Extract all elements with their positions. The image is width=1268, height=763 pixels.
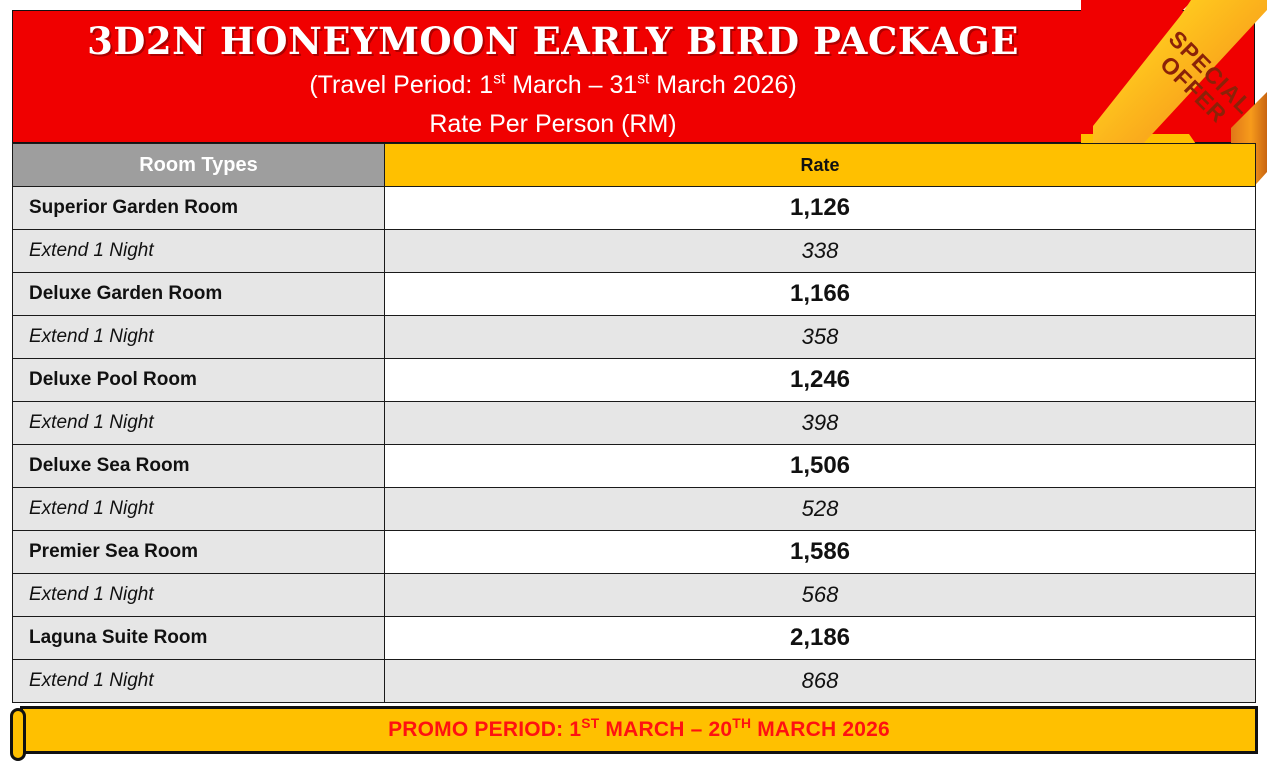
room-type-cell: Laguna Suite Room: [13, 617, 385, 660]
table-row: Extend 1 Night 338: [13, 230, 1256, 273]
rate-cell: 528: [385, 488, 1256, 531]
rate-cell: 1,246: [385, 359, 1256, 402]
table-row: Extend 1 Night 358: [13, 316, 1256, 359]
room-type-cell: Extend 1 Night: [13, 660, 385, 703]
promo-ordinal-second: TH: [732, 715, 751, 731]
table-row: Extend 1 Night 868: [13, 660, 1256, 703]
travel-period-ordinal-first: st: [493, 71, 505, 88]
table-body: Superior Garden Room 1,126 Extend 1 Nigh…: [13, 187, 1256, 703]
table-row: Laguna Suite Room 2,186: [13, 617, 1256, 660]
promo-flyer: 3D2N HONEYMOON EARLY BIRD PACKAGE (Trave…: [0, 0, 1268, 763]
promo-middle: MARCH – 20: [599, 718, 732, 741]
rate-cell: 1,506: [385, 445, 1256, 488]
travel-period-suffix: March 2026): [649, 71, 796, 99]
room-type-cell: Deluxe Sea Room: [13, 445, 385, 488]
rate-cell: 358: [385, 316, 1256, 359]
room-type-cell: Extend 1 Night: [13, 574, 385, 617]
promo-banner-box: PROMO PERIOD: 1ST MARCH – 20TH MARCH 202…: [20, 706, 1258, 754]
rate-cell: 1,166: [385, 273, 1256, 316]
room-type-cell: Extend 1 Night: [13, 230, 385, 273]
banner-scroll-edge: [10, 708, 26, 761]
table-row: Extend 1 Night 398: [13, 402, 1256, 445]
room-type-cell: Deluxe Garden Room: [13, 273, 385, 316]
rate-table: Room Types Rate Superior Garden Room 1,1…: [12, 143, 1256, 703]
table-row: Extend 1 Night 528: [13, 488, 1256, 531]
column-header-room-types: Room Types: [13, 144, 385, 187]
table-row: Extend 1 Night 568: [13, 574, 1256, 617]
room-type-cell: Superior Garden Room: [13, 187, 385, 230]
rate-cell: 1,126: [385, 187, 1256, 230]
promo-prefix: PROMO PERIOD: 1: [388, 718, 581, 741]
promo-period-banner: PROMO PERIOD: 1ST MARCH – 20TH MARCH 202…: [10, 706, 1258, 754]
rate-cell: 1,586: [385, 531, 1256, 574]
table-row: Premier Sea Room 1,586: [13, 531, 1256, 574]
travel-period-middle: March – 31: [505, 71, 637, 99]
rate-cell: 2,186: [385, 617, 1256, 660]
rate-per-person-label: Rate Per Person (RM): [13, 112, 1093, 137]
travel-period-prefix: (Travel Period: 1: [309, 71, 493, 99]
table-row: Deluxe Garden Room 1,166: [13, 273, 1256, 316]
promo-suffix: MARCH 2026: [751, 718, 890, 741]
room-type-cell: Extend 1 Night: [13, 488, 385, 531]
page-title: 3D2N HONEYMOON EARLY BIRD PACKAGE: [13, 23, 1093, 60]
header-banner: 3D2N HONEYMOON EARLY BIRD PACKAGE (Trave…: [12, 10, 1255, 143]
travel-period-ordinal-second: st: [637, 71, 649, 88]
table-row: Superior Garden Room 1,126: [13, 187, 1256, 230]
promo-ordinal-first: ST: [581, 715, 599, 731]
travel-period-line: (Travel Period: 1st March – 31st March 2…: [13, 73, 1093, 98]
room-type-cell: Extend 1 Night: [13, 402, 385, 445]
room-type-cell: Premier Sea Room: [13, 531, 385, 574]
rate-cell: 338: [385, 230, 1256, 273]
room-type-cell: Extend 1 Night: [13, 316, 385, 359]
rate-cell: 868: [385, 660, 1256, 703]
rate-cell: 568: [385, 574, 1256, 617]
promo-period-text: PROMO PERIOD: 1ST MARCH – 20TH MARCH 202…: [388, 718, 890, 742]
table-row: Deluxe Sea Room 1,506: [13, 445, 1256, 488]
rate-cell: 398: [385, 402, 1256, 445]
column-header-rate: Rate: [385, 144, 1256, 187]
table-row: Deluxe Pool Room 1,246: [13, 359, 1256, 402]
header-text-block: 3D2N HONEYMOON EARLY BIRD PACKAGE (Trave…: [13, 11, 1093, 137]
room-type-cell: Deluxe Pool Room: [13, 359, 385, 402]
table-header-row: Room Types Rate: [13, 144, 1256, 187]
